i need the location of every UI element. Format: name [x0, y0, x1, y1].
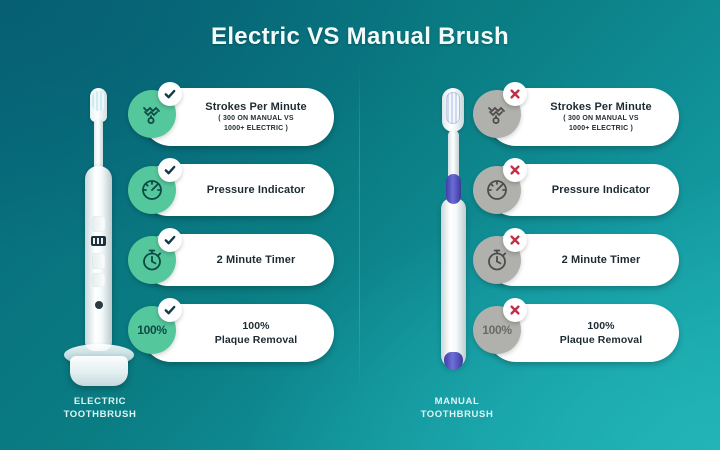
percent-100-label: 100%	[482, 323, 512, 337]
check-icon	[158, 298, 182, 322]
electric-mode-button	[92, 253, 105, 269]
cross-icon	[503, 298, 527, 322]
feature-card-2-minute-timer-manual[interactable]: 2 Minute Timer	[473, 234, 679, 286]
feature-title: Pressure Indicator	[552, 184, 650, 197]
feature-card-plaque-removal-electric[interactable]: 100% Plaque Removal 100%	[128, 304, 334, 362]
electric-indicator-dot	[95, 301, 103, 309]
electric-caption-line2: TOOTHBRUSH	[25, 409, 175, 422]
feature-title: 2 Minute Timer	[217, 254, 296, 267]
electric-feature-list: Strokes Per Minute ( 300 ON MANUAL VS 10…	[128, 88, 334, 380]
feature-title-line1: 100%	[215, 319, 298, 333]
electric-brush-neck	[94, 119, 103, 171]
feature-card-plaque-removal-manual[interactable]: 100% Plaque Removal 100%	[473, 304, 679, 362]
check-icon	[158, 82, 182, 106]
feature-card-pressure-indicator-electric[interactable]: Pressure Indicator	[128, 164, 334, 216]
manual-caption: MANUAL TOOTHBRUSH	[382, 396, 532, 422]
manual-caption-line1: MANUAL	[382, 396, 532, 409]
manual-bristles	[446, 92, 460, 124]
percent-100-label: 100%	[137, 323, 167, 337]
feature-title-line1: 100%	[560, 319, 643, 333]
feature-subtitle-line1: ( 300 ON MANUAL VS	[205, 115, 306, 123]
feature-title: Strokes Per Minute	[550, 101, 651, 114]
electric-display-screen	[91, 236, 106, 246]
cross-icon	[503, 228, 527, 252]
feature-subtitle-line2: 1000+ ELECTRIC )	[205, 125, 306, 133]
electric-intensity-button	[92, 273, 105, 287]
manual-brush-grip	[446, 174, 461, 204]
cross-icon	[503, 82, 527, 106]
feature-card-2-minute-timer-electric[interactable]: 2 Minute Timer	[128, 234, 334, 286]
electric-caption: ELECTRIC TOOTHBRUSH	[25, 396, 175, 422]
feature-title: Strokes Per Minute	[205, 101, 306, 114]
check-icon	[158, 158, 182, 182]
feature-card-strokes-per-minute-electric[interactable]: Strokes Per Minute ( 300 ON MANUAL VS 10…	[128, 88, 334, 146]
electric-charging-base	[70, 356, 128, 386]
manual-caption-line2: TOOTHBRUSH	[382, 409, 532, 422]
check-icon	[158, 228, 182, 252]
electric-caption-line1: ELECTRIC	[25, 396, 175, 409]
feature-title-line2: Plaque Removal	[215, 333, 298, 347]
feature-title: Pressure Indicator	[207, 184, 305, 197]
manual-feature-list: Strokes Per Minute ( 300 ON MANUAL VS 10…	[473, 88, 679, 380]
infographic-canvas: Electric VS Manual Brush ELECTRIC TOOTHB…	[0, 0, 720, 450]
manual-brush-handle	[441, 198, 466, 368]
feature-card-strokes-per-minute-manual[interactable]: Strokes Per Minute ( 300 ON MANUAL VS 10…	[473, 88, 679, 146]
cross-icon	[503, 158, 527, 182]
manual-brush-tip	[444, 352, 463, 370]
electric-bristles	[92, 91, 105, 111]
feature-card-pressure-indicator-manual[interactable]: Pressure Indicator	[473, 164, 679, 216]
electric-power-button	[92, 216, 105, 232]
feature-subtitle-line2: 1000+ ELECTRIC )	[550, 125, 651, 133]
feature-title-line2: Plaque Removal	[560, 333, 643, 347]
feature-title: 2 Minute Timer	[562, 254, 641, 267]
feature-subtitle-line1: ( 300 ON MANUAL VS	[550, 115, 651, 123]
page-title: Electric VS Manual Brush	[0, 23, 720, 51]
